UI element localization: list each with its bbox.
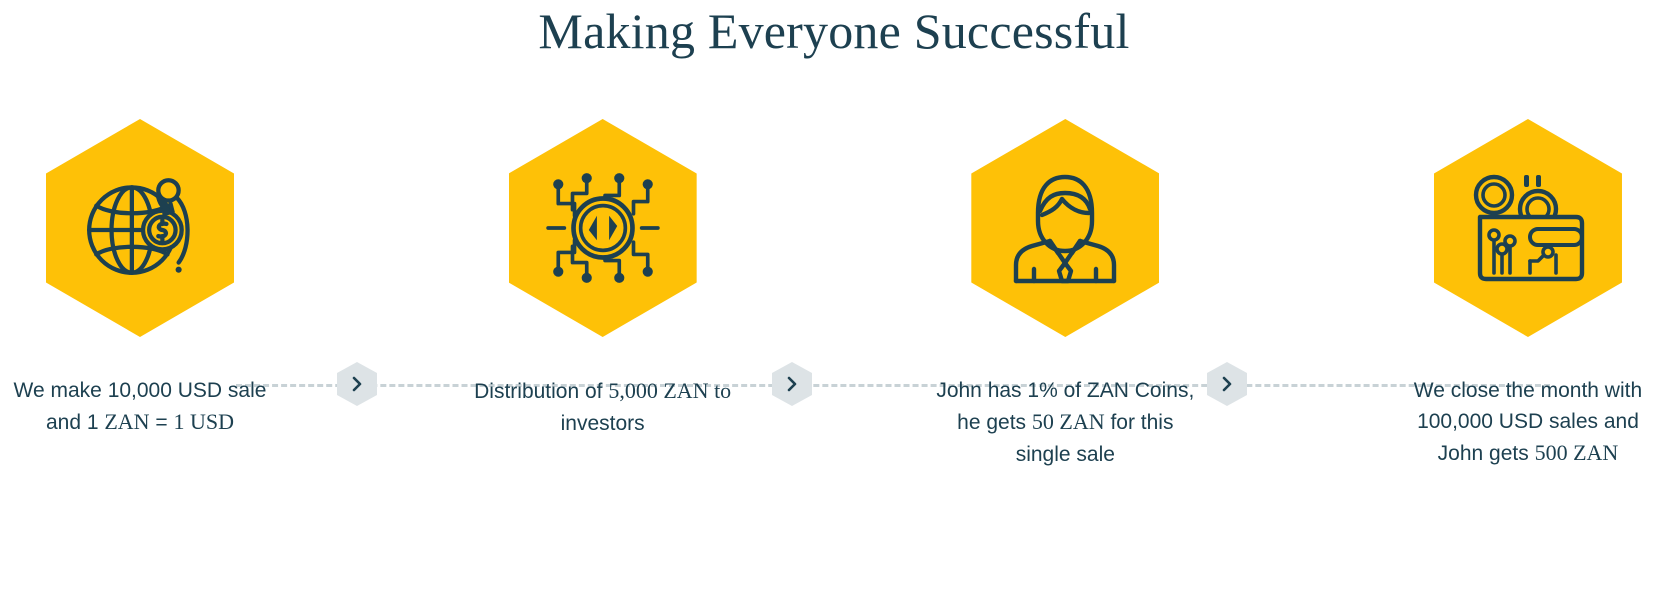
flow-step-1: We make 10,000 USD sale and 1 ZAN = 1 US… [0,119,280,439]
chevron-right-icon [786,376,798,392]
process-flow: We make 10,000 USD sale and 1 ZAN = 1 US… [0,119,1668,489]
page-title: Making Everyone Successful [0,0,1668,59]
wallet-coins-icon [1468,169,1588,287]
step-3-caption: John has 1% of ZAN Coins, he gets 50 ZAN… [930,375,1200,470]
caption-part: ZAN [104,409,149,434]
caption-part: 1 USD [174,409,235,434]
flow-step-4: We close the month with 100,000 USD sale… [1388,119,1668,470]
flow-step-2: Distribution of 5,000 ZAN to investors [463,119,743,439]
connector-hexagon [1207,362,1247,406]
businessman-icon [1006,167,1124,289]
chevron-right-icon [351,376,363,392]
step-3-hexagon [971,119,1159,337]
step-1-caption: We make 10,000 USD sale and 1 ZAN = 1 US… [5,375,275,439]
caption-part: Distribution of [474,380,608,403]
flow-step-3: John has 1% of ZAN Coins, he gets 50 ZAN… [925,119,1205,470]
step-2-caption: Distribution of 5,000 ZAN to investors [468,375,738,439]
step-4-hexagon [1434,119,1622,337]
step-1-hexagon [46,119,234,337]
globe-dollar-icon [79,167,201,289]
chevron-right-icon [1221,376,1233,392]
flow-connector-2 [770,362,814,406]
step-2-hexagon [509,119,697,337]
flow-connector-1 [335,362,379,406]
caption-part: 5,000 ZAN to [608,378,731,403]
circuit-coin-icon [542,167,664,289]
flow-steps: We make 10,000 USD sale and 1 ZAN = 1 US… [0,119,1668,489]
caption-part: 50 ZAN [1032,409,1105,434]
caption-part: investors [561,412,645,435]
caption-part: = [150,411,174,434]
caption-part: 500 ZAN [1535,440,1619,465]
connector-hexagon [772,362,812,406]
connector-hexagon [337,362,377,406]
flow-connector-3 [1205,362,1249,406]
step-4-caption: We close the month with 100,000 USD sale… [1393,375,1663,470]
